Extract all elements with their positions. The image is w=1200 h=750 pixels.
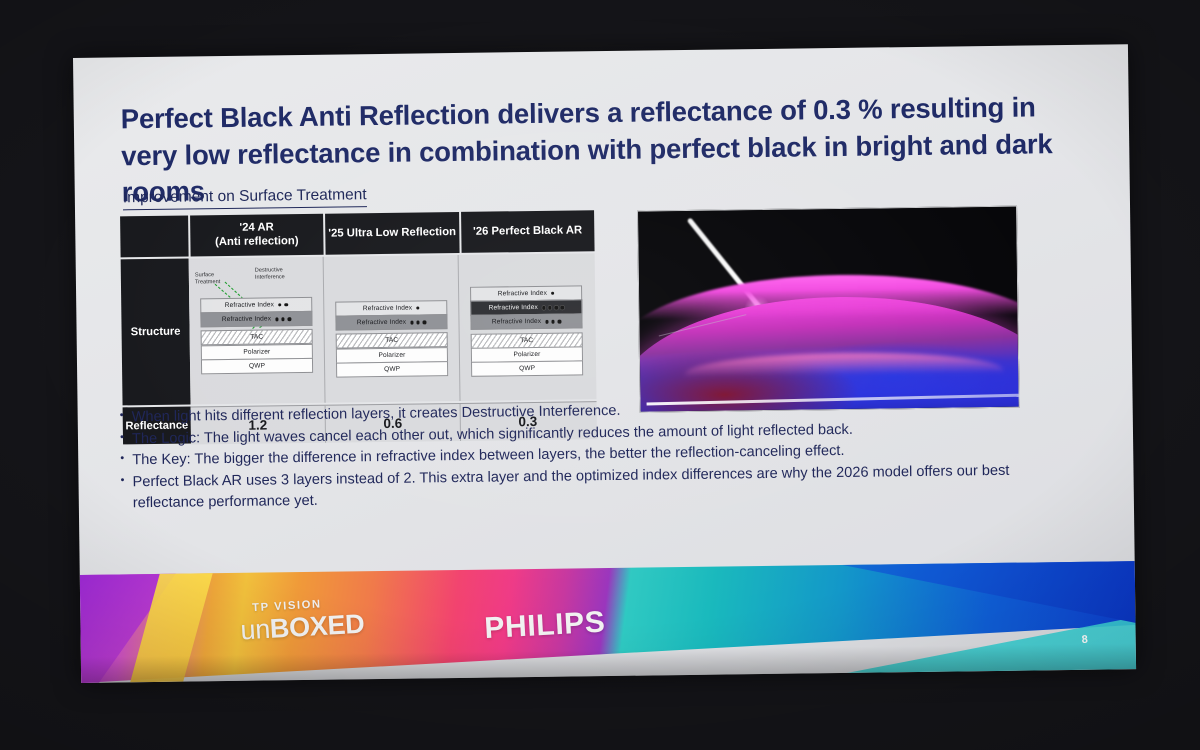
layer-refractive-index-2: Refractive Index <box>335 314 447 330</box>
section-subtitle: Improvement on Surface Treatment <box>123 186 367 210</box>
substrate-stack: TAC Polarizer QWP <box>336 333 449 378</box>
dots-1 <box>551 291 555 295</box>
row-label-structure: Structure <box>121 259 191 406</box>
photographed-slide-scene: Perfect Black Anti Reflection delivers a… <box>0 0 1200 750</box>
structure-cell-25ulr: Refractive Index Refractive Index TAC Po <box>324 255 461 403</box>
bullet-list: • When light hits different reflection l… <box>112 395 1073 515</box>
page-number: 8 <box>1081 634 1088 646</box>
col1-line1: '24 AR <box>239 221 273 233</box>
col2-line1: '25 Ultra Low Reflection <box>328 226 456 241</box>
col3-line1: '26 Perfect Black AR <box>473 224 582 239</box>
dots-4 <box>542 306 564 310</box>
bullet-dot-icon: • <box>112 451 132 472</box>
layer-qwp: QWP <box>471 360 583 376</box>
layer-stack-25ulr: Refractive Index Refractive Index TAC Po <box>335 300 448 376</box>
brand-un: un <box>240 614 271 646</box>
structure-cell-24ar: Surface Treatment Destructive Interferen… <box>189 257 326 405</box>
substrate-stack: TAC Polarizer QWP <box>201 329 314 374</box>
brand-boxed: BOXED <box>269 609 365 644</box>
presentation-slide: Perfect Black Anti Reflection delivers a… <box>73 44 1136 683</box>
substrate-stack: TAC Polarizer QWP <box>471 332 584 377</box>
footer-brand-bar: TP VISION unBOXED PHILIPS 8 <box>80 561 1136 683</box>
col1-line2: (Anti reflection) <box>215 235 299 248</box>
table-header-corner <box>120 216 188 258</box>
layer-qwp: QWP <box>201 358 313 374</box>
annotation-surface-treatment: Surface Treatment <box>195 272 220 286</box>
bullet-dot-icon: • <box>112 407 132 428</box>
dots-3 <box>545 320 561 324</box>
layer-stack-24ar: Refractive Index Refractive Index TAC Po <box>200 297 313 373</box>
table-header-col-26pbar: '26 Perfect Black AR <box>461 210 595 253</box>
dots-3 <box>275 317 291 321</box>
brand-philips: PHILIPS <box>484 606 607 647</box>
bullet-dot-icon: • <box>112 472 133 514</box>
layer-stack-26pbar: Refractive Index Refractive Index Refrac… <box>470 285 583 376</box>
dots-1 <box>416 306 420 310</box>
dots-3 <box>410 320 426 324</box>
product-photo <box>637 206 1020 413</box>
bullet-dot-icon: • <box>112 429 132 450</box>
table-header-row: '24 AR (Anti reflection) '25 Ultra Low R… <box>120 210 594 257</box>
layer-qwp: QWP <box>336 361 448 377</box>
structure-row: Surface Treatment Destructive Interferen… <box>189 253 597 404</box>
annotation-destructive-interference: Destructive Interference <box>255 267 285 281</box>
layer-refractive-index-3: Refractive Index <box>470 314 582 330</box>
table-header-col-24ar: '24 AR (Anti reflection) <box>190 214 324 257</box>
dots-2 <box>278 303 288 307</box>
layer-refractive-index-2: Refractive Index <box>200 311 312 327</box>
table-header-col-25ulr: '25 Ultra Low Reflection <box>325 212 459 255</box>
structure-cell-26pbar: Refractive Index Refractive Index Refrac… <box>459 253 595 401</box>
